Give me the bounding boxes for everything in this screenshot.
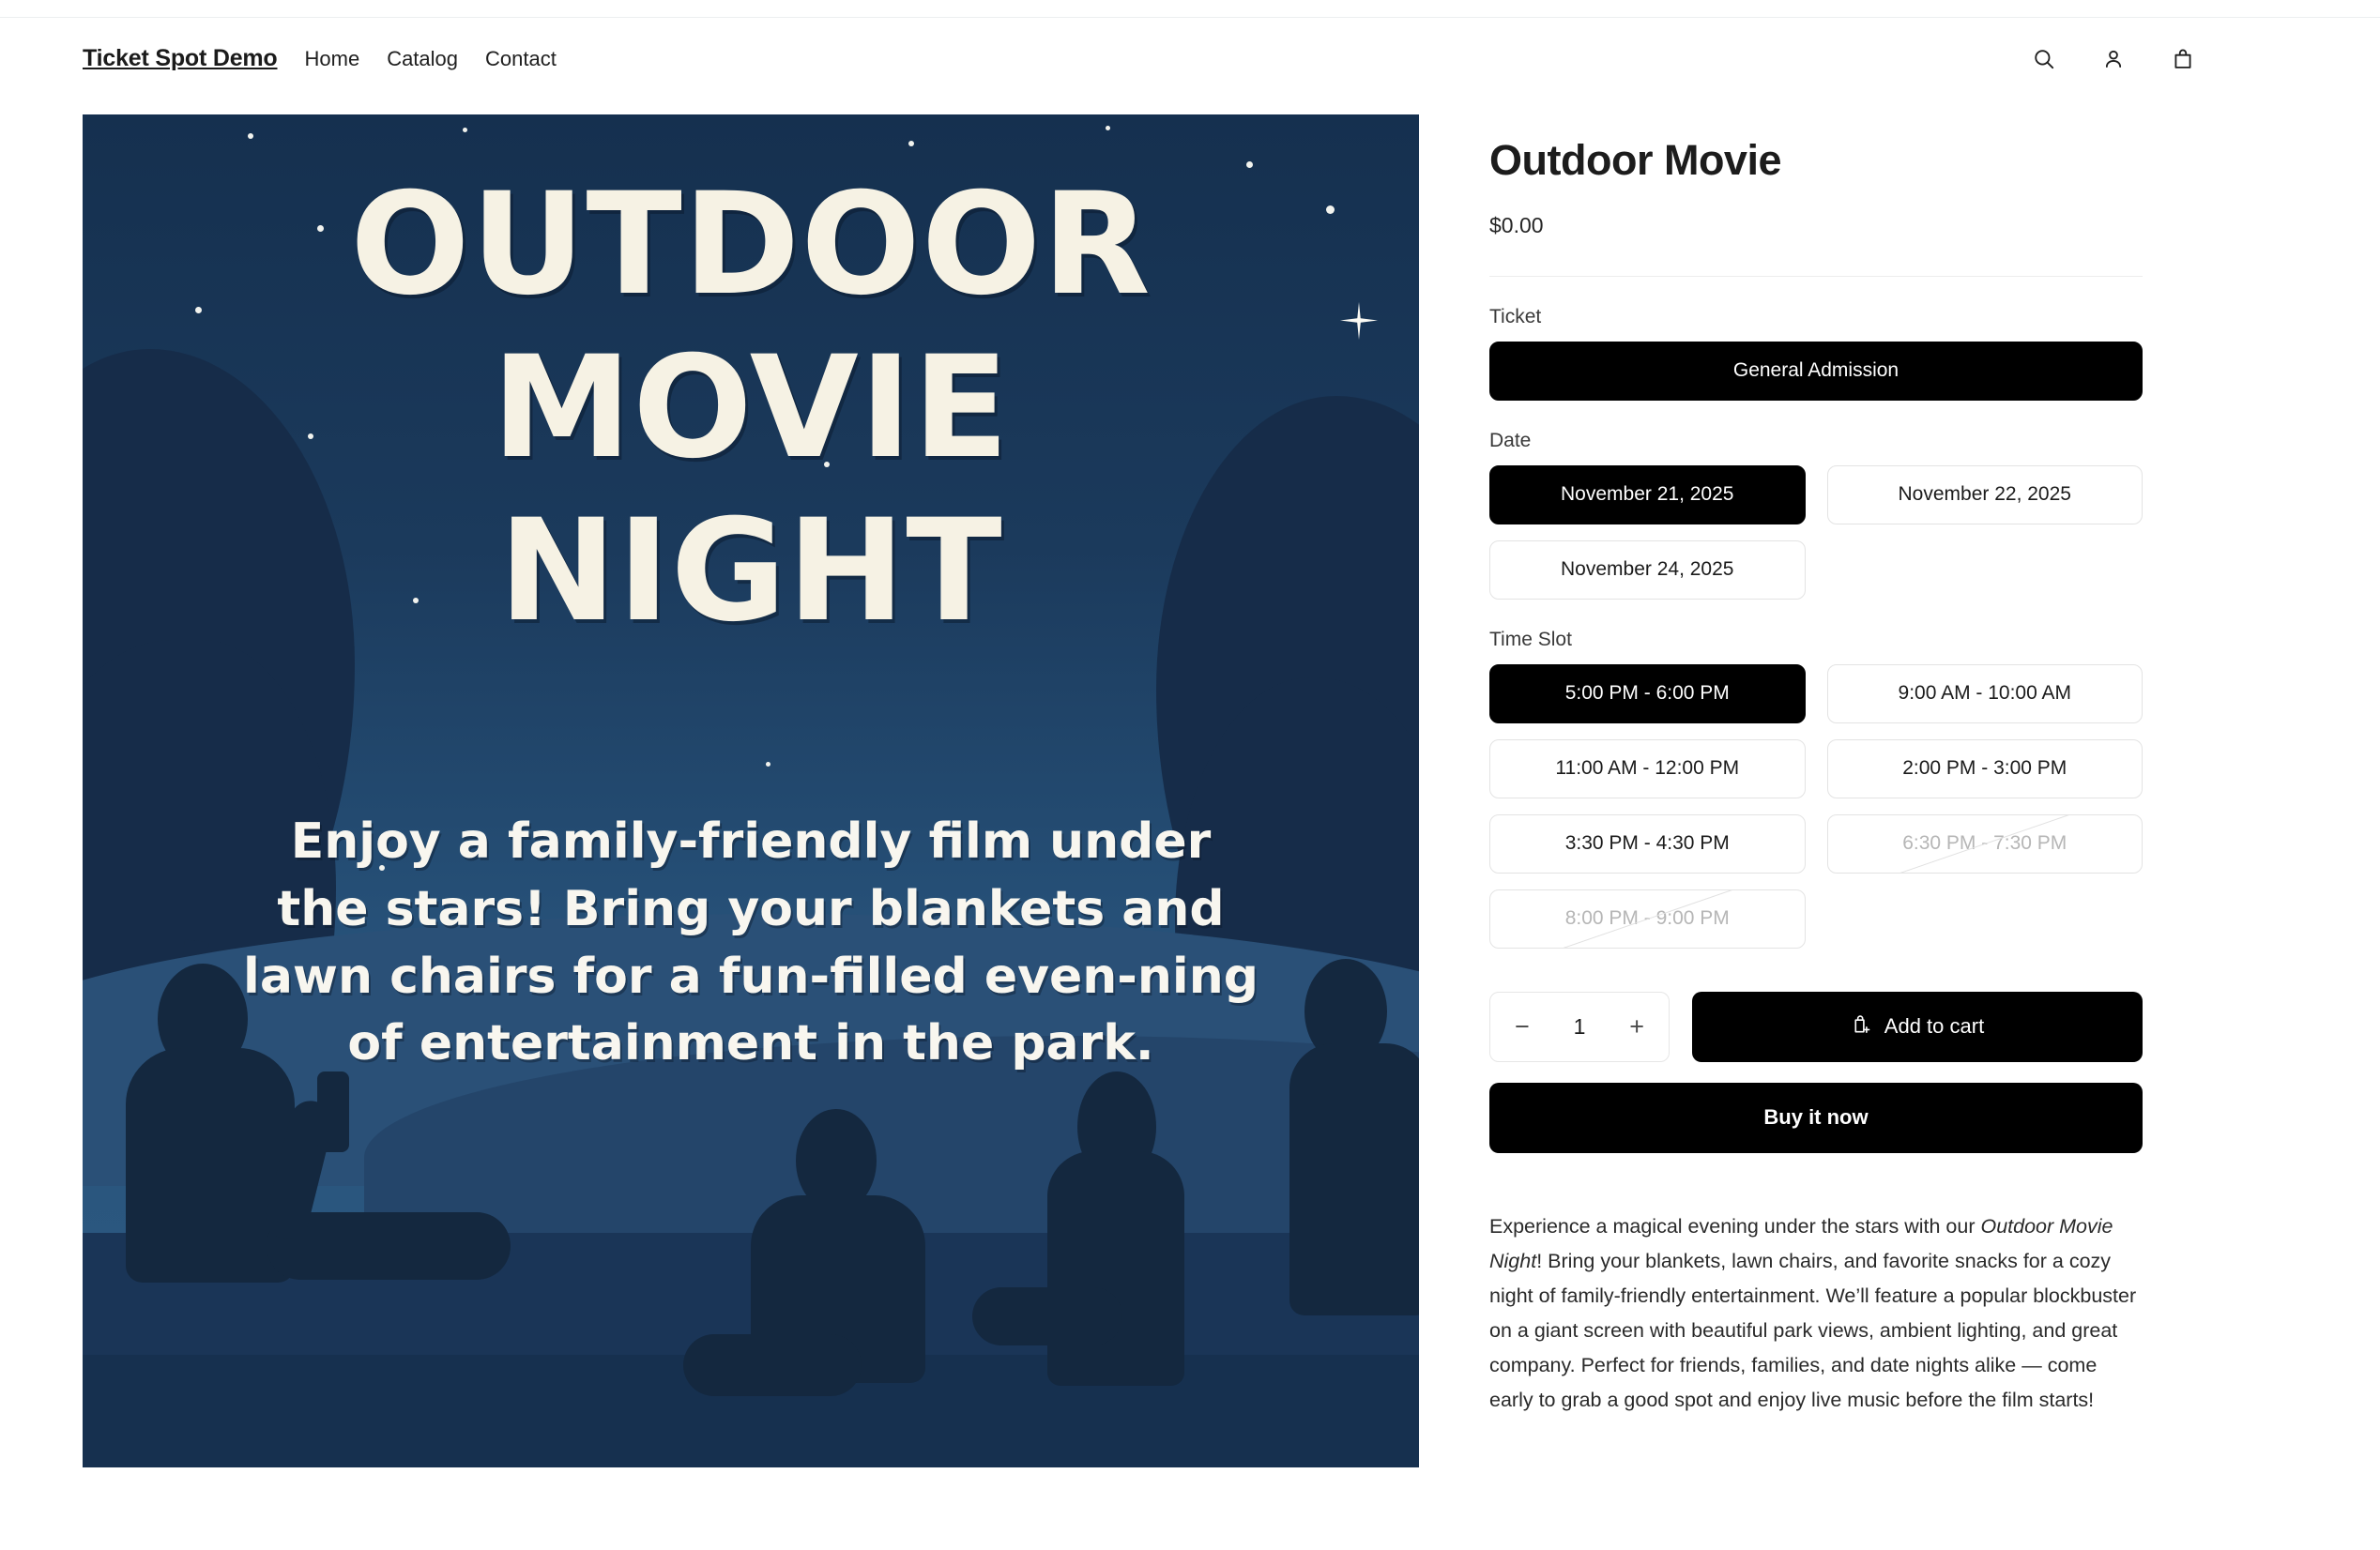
option-label-ticket: Ticket — [1489, 306, 2143, 328]
poster-title-line-3: NIGHT — [83, 490, 1419, 653]
site-header: Ticket Spot Demo Home Catalog Contact — [0, 18, 2380, 99]
add-to-cart-button[interactable]: Add to cart — [1692, 992, 2143, 1062]
product-image[interactable]: OUTDOOR MOVIE NIGHT Enjoy a family-frien… — [83, 114, 1419, 1467]
option-group-date: Date November 21, 2025 November 22, 2025… — [1489, 430, 2143, 600]
quantity-decrease-button[interactable]: − — [1515, 1014, 1530, 1040]
product-price: $0.00 — [1489, 213, 2143, 238]
time-slot-option-5[interactable]: 3:30 PM - 4:30 PM — [1489, 814, 1806, 874]
product-info: Outdoor Movie $0.00 Ticket General Admis… — [1489, 114, 2143, 1419]
option-label-date: Date — [1489, 430, 2143, 452]
nav-link-home[interactable]: Home — [305, 47, 360, 71]
brand-logo[interactable]: Ticket Spot Demo — [83, 45, 278, 72]
product-main: OUTDOOR MOVIE NIGHT Enjoy a family-frien… — [0, 114, 2380, 1467]
poster-title: OUTDOOR MOVIE NIGHT — [83, 163, 1419, 653]
date-option-2[interactable]: November 22, 2025 — [1827, 465, 2144, 524]
time-slot-option-2[interactable]: 9:00 AM - 10:00 AM — [1827, 664, 2144, 723]
time-slot-option-4[interactable]: 2:00 PM - 3:00 PM — [1827, 739, 2144, 798]
poster-title-line-1: OUTDOOR — [83, 163, 1419, 327]
poster-text: OUTDOOR MOVIE NIGHT Enjoy a family-frien… — [83, 114, 1419, 1467]
time-slot-options: 5:00 PM - 6:00 PM 9:00 AM - 10:00 AM 11:… — [1489, 664, 2143, 949]
nav-link-contact[interactable]: Contact — [485, 47, 557, 71]
quantity-increase-button[interactable]: + — [1629, 1014, 1644, 1040]
time-slot-option-3[interactable]: 11:00 AM - 12:00 PM — [1489, 739, 1806, 798]
date-option-3[interactable]: November 24, 2025 — [1489, 540, 1806, 600]
page-title: Outdoor Movie — [1489, 137, 2143, 184]
time-slot-option-7: 8:00 PM - 9:00 PM — [1489, 889, 1806, 949]
poster-title-line-2: MOVIE — [83, 327, 1419, 490]
nav-link-catalog[interactable]: Catalog — [387, 47, 458, 71]
date-options: November 21, 2025 November 22, 2025 Nove… — [1489, 465, 2143, 600]
cart-bag-icon[interactable] — [2167, 43, 2199, 75]
option-group-ticket: Ticket General Admission — [1489, 306, 2143, 401]
product-description: Experience a magical evening under the s… — [1489, 1209, 2143, 1419]
quantity-stepper[interactable]: − 1 + — [1489, 992, 1670, 1062]
poster-body-text: Enjoy a family-friendly film under the s… — [242, 809, 1259, 1078]
date-option-1[interactable]: November 21, 2025 — [1489, 465, 1806, 524]
purchase-controls: − 1 + Add to cart — [1489, 992, 2143, 1062]
time-slot-option-1[interactable]: 5:00 PM - 6:00 PM — [1489, 664, 1806, 723]
header-left: Ticket Spot Demo Home Catalog Contact — [0, 45, 557, 72]
option-label-time-slot: Time Slot — [1489, 629, 2143, 651]
ticket-options: General Admission — [1489, 342, 2143, 401]
main-nav: Home Catalog Contact — [305, 47, 557, 71]
buy-it-now-button[interactable]: Buy it now — [1489, 1083, 2143, 1153]
product-page: Ticket Spot Demo Home Catalog Contact — [0, 0, 2380, 1550]
header-right — [2028, 43, 2380, 75]
cart-bag-plus-icon — [1851, 1013, 1872, 1041]
description-part-1: Experience a magical evening under the s… — [1489, 1215, 1980, 1238]
add-to-cart-label: Add to cart — [1884, 1014, 1984, 1039]
description-part-2: ! Bring your blankets, lawn chairs, and … — [1489, 1250, 2136, 1412]
search-icon[interactable] — [2028, 43, 2060, 75]
info-divider — [1489, 276, 2143, 277]
option-group-time-slot: Time Slot 5:00 PM - 6:00 PM 9:00 AM - 10… — [1489, 629, 2143, 949]
account-icon[interactable] — [2098, 43, 2129, 75]
quantity-value: 1 — [1574, 1014, 1586, 1040]
ticket-option-general-admission[interactable]: General Admission — [1489, 342, 2143, 401]
time-slot-option-6: 6:30 PM - 7:30 PM — [1827, 814, 2144, 874]
